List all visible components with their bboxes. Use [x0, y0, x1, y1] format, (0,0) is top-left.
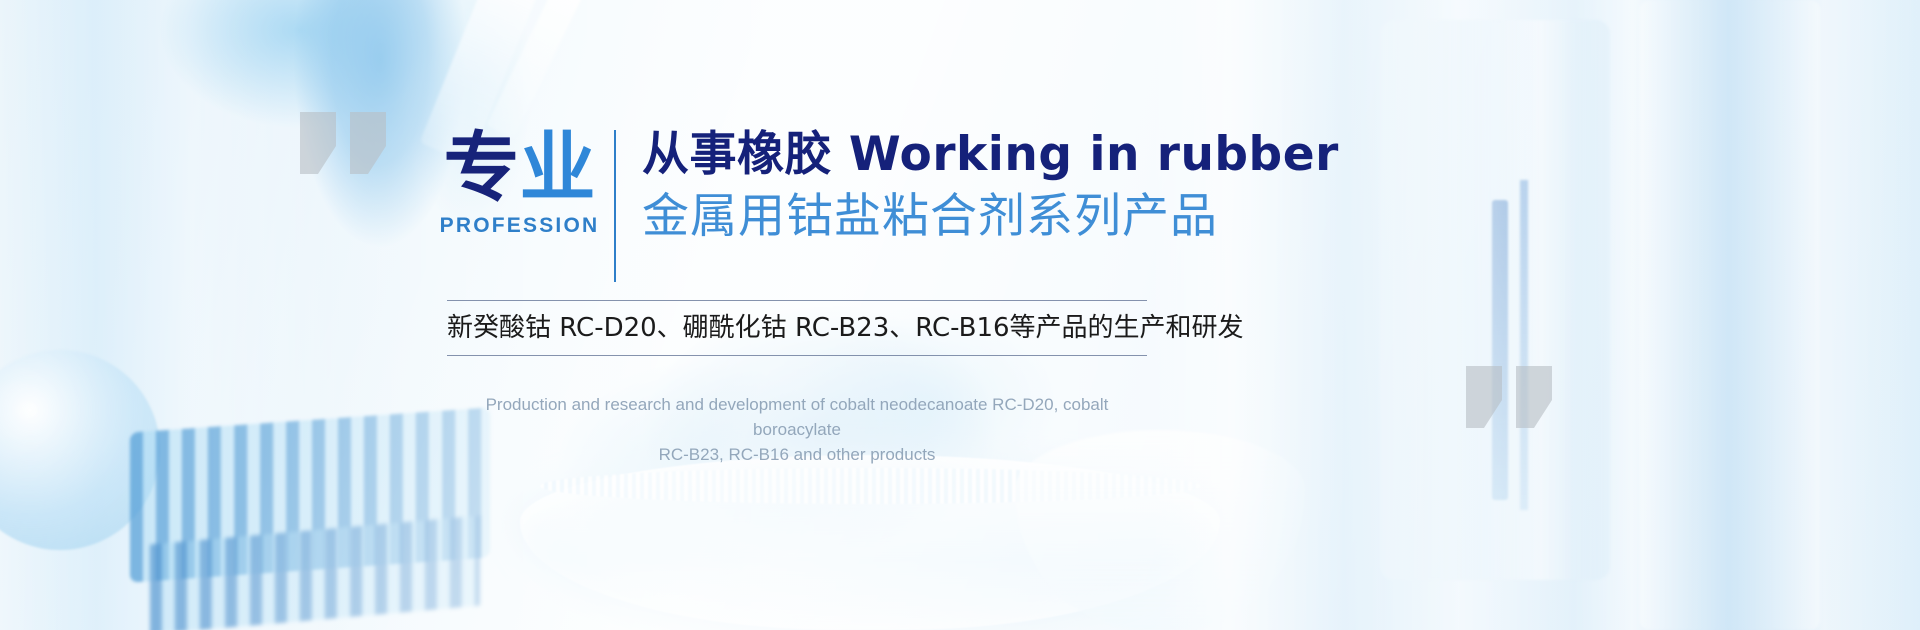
headline-line-2: 金属用钴盐粘合剂系列产品 — [642, 186, 1339, 248]
vertical-divider — [614, 130, 616, 282]
subtitle-rule-top — [447, 300, 1147, 301]
profession-logo-cn: 专业 — [444, 128, 596, 208]
subtitle-chinese: 新癸酸钴 RC-D20、硼酰化钴 RC-B23、RC-B16等产品的生产和研发 — [447, 301, 1147, 355]
banner-content: 专业 PROFESSION 从事橡胶 Working in rubber 金属用… — [0, 0, 1920, 630]
profession-logo-cn-first: 专 — [444, 123, 520, 212]
subtitle-block: 新癸酸钴 RC-D20、硼酰化钴 RC-B23、RC-B16等产品的生产和研发 — [447, 300, 1147, 356]
subtitle-english-line-1: Production and research and development … — [447, 392, 1147, 442]
hero-banner: 专业 PROFESSION 从事橡胶 Working in rubber 金属用… — [0, 0, 1920, 630]
profession-logo-en: PROFESSION — [440, 214, 600, 238]
profession-logo: 专业 PROFESSION — [447, 124, 592, 238]
headline-text: 从事橡胶 Working in rubber 金属用钴盐粘合剂系列产品 — [642, 124, 1339, 248]
headline-row: 专业 PROFESSION 从事橡胶 Working in rubber 金属用… — [447, 124, 1339, 282]
headline-line-1: 从事橡胶 Working in rubber — [642, 124, 1339, 186]
profession-logo-cn-second: 业 — [520, 123, 596, 212]
subtitle-english-line-2: RC-B23, RC-B16 and other products — [447, 442, 1147, 467]
subtitle-english: Production and research and development … — [447, 392, 1147, 467]
subtitle-rule-bottom — [447, 355, 1147, 356]
